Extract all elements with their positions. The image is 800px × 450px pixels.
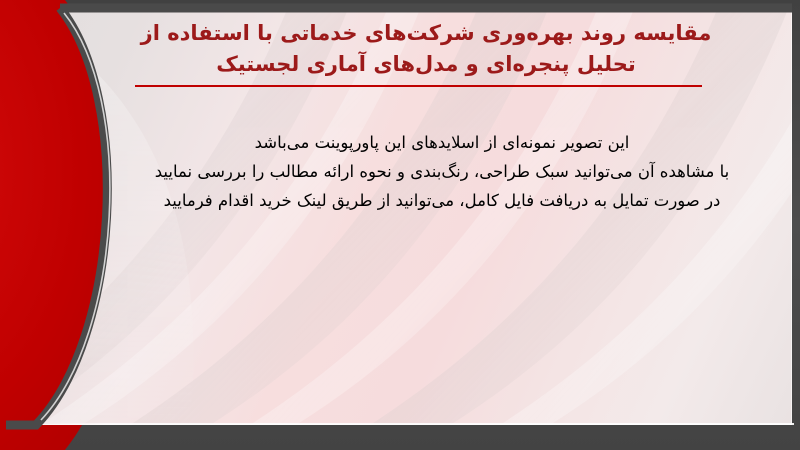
slide-canvas: مقایسه روند بهره‌وری شرکت‌های خدماتی با …	[0, 0, 800, 450]
content-panel: مقایسه روند بهره‌وری شرکت‌های خدماتی با …	[0, 8, 792, 425]
slide-body-line-1: این تصویر نمونه‌ای از اسلایدهای این پاور…	[110, 128, 774, 157]
title-underline-rule	[135, 85, 702, 87]
slide-title: مقایسه روند بهره‌وری شرکت‌های خدماتی با …	[0, 18, 792, 80]
slide-title-line-1: مقایسه روند بهره‌وری شرکت‌های خدماتی با …	[100, 18, 752, 49]
content-panel-container: مقایسه روند بهره‌وری شرکت‌های خدماتی با …	[0, 0, 800, 450]
slide-body-line-2: با مشاهده آن می‌توانید سبک طراحی، رنگ‌بن…	[110, 157, 774, 186]
slide-body: این تصویر نمونه‌ای از اسلایدهای این پاور…	[110, 128, 774, 215]
panel-bottom-hairline	[48, 423, 794, 425]
slide-title-line-2: تحلیل پنجره‌ای و مدل‌های آماری لجستیک	[100, 49, 752, 80]
slide-body-line-3: در صورت تمایل به دریافت فایل کامل، می‌تو…	[110, 186, 774, 215]
